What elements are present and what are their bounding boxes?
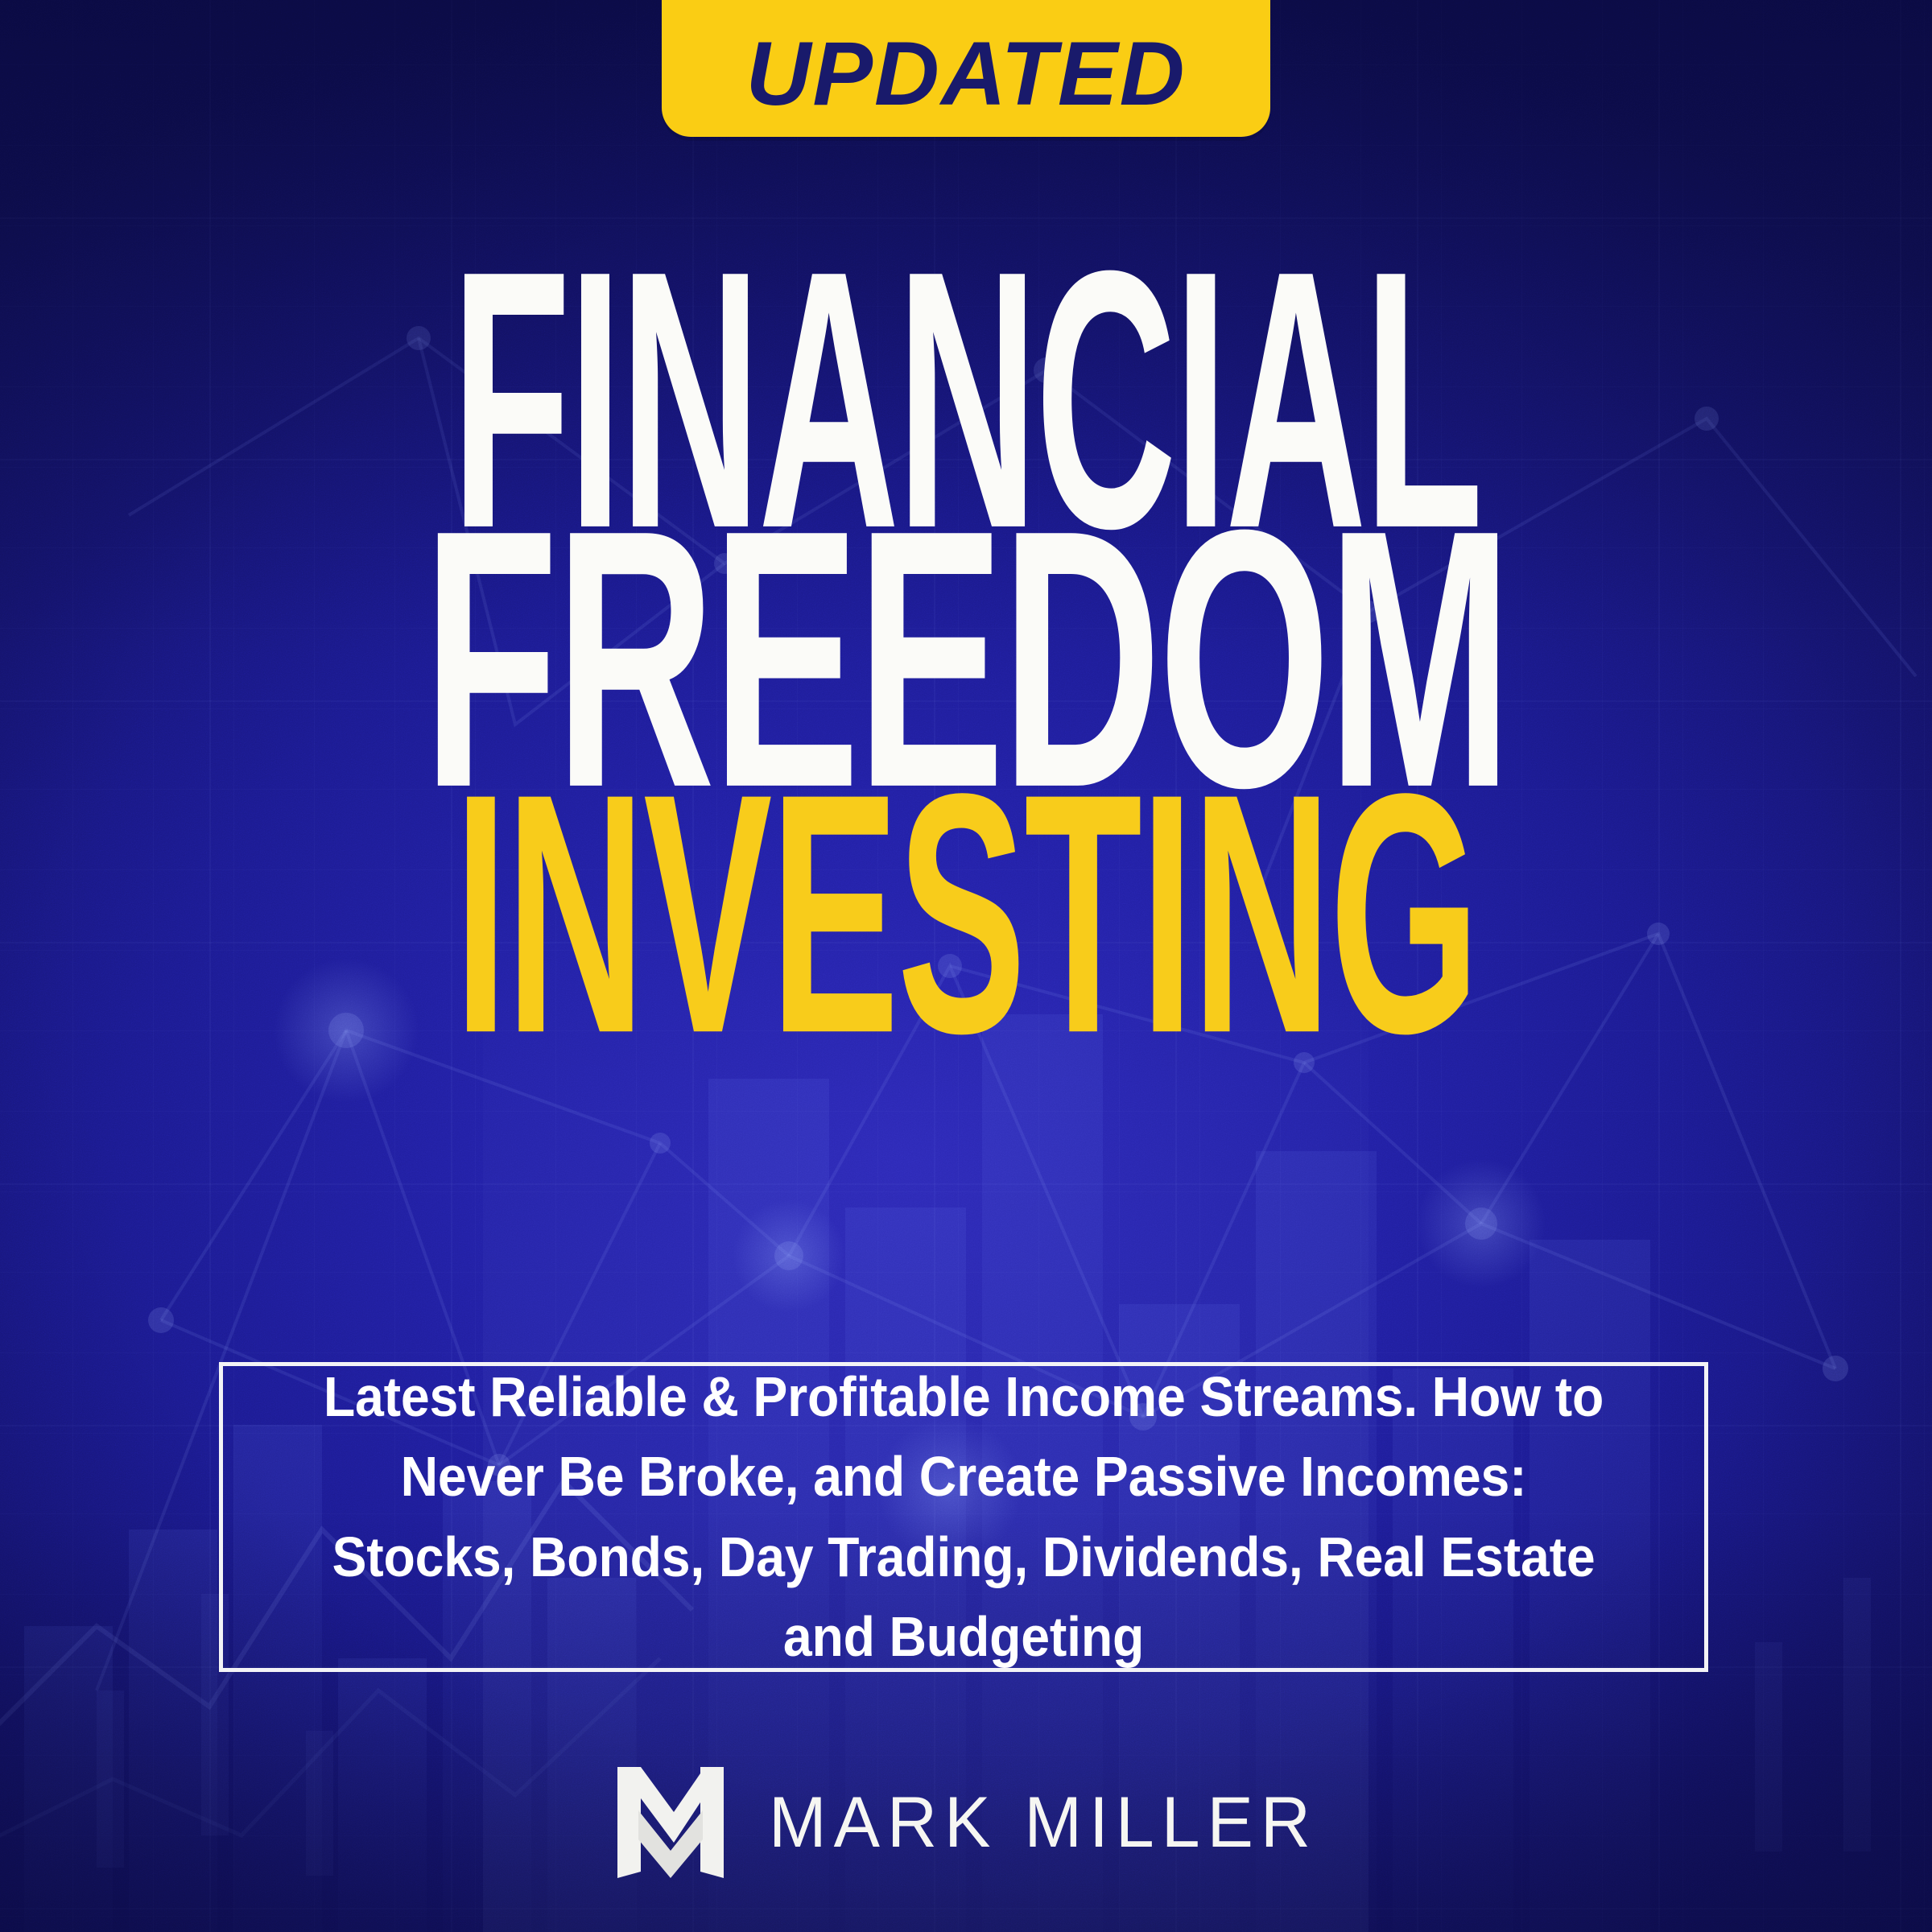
title-line-investing: INVESTING	[386, 757, 1546, 1071]
subtitle-text: Latest Reliable & Profitable Income Stre…	[283, 1357, 1645, 1678]
updated-badge-label: UPDATED	[745, 29, 1186, 119]
subtitle-box: Latest Reliable & Profitable Income Stre…	[219, 1362, 1708, 1672]
book-title: FINANCIAL FREEDOM INVESTING	[0, 242, 1932, 1062]
updated-badge: UPDATED	[662, 0, 1270, 137]
author-credit: MARK MILLER	[0, 1767, 1932, 1878]
mark-miller-m-monogram-icon	[614, 1767, 727, 1878]
author-name: MARK MILLER	[769, 1786, 1318, 1858]
audiobook-cover: UPDATED FINANCIAL FREEDOM INVESTING Late…	[0, 0, 1932, 1932]
